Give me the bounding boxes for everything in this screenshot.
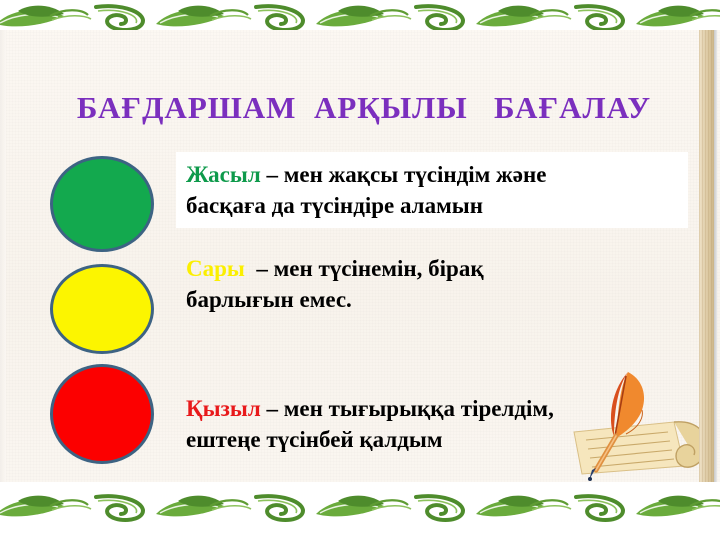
statement-yellow: Сары – мен түсінемін, бірақ барлығын еме…	[186, 254, 686, 315]
slide-canvas: БАҒДАРШАМ АРҚЫЛЫ БАҒАЛАУ	[0, 0, 720, 540]
statement-red-line2: ештеңе түсінбей қалдым	[186, 425, 706, 456]
statement-green-line1: Жасыл – мен жақсы түсіндім және	[186, 160, 682, 191]
statement-yellow-line1-text: – мен түсінемін, бірақ	[245, 256, 484, 281]
traffic-light-green-circle	[50, 156, 154, 252]
statement-red-line1: Қызыл – мен тығырыққа тірелдім,	[186, 394, 706, 425]
statement-yellow-line2: барлығын емес.	[186, 285, 686, 316]
traffic-light-yellow-circle	[50, 264, 154, 354]
page-title: БАҒДАРШАМ АРҚЫЛЫ БАҒАЛАУ	[26, 92, 702, 125]
bottom-leaf-vine-border	[0, 482, 720, 540]
top-leaf-vine-border	[0, 0, 720, 30]
statement-green-line2: басқаға да түсіндіре аламын	[186, 191, 682, 222]
statement-green-line1-text: – мен жақсы түсіндім және	[261, 162, 547, 187]
statement-green: Жасыл – мен жақсы түсіндім және басқаға …	[176, 152, 688, 228]
traffic-light-red-circle	[50, 364, 154, 464]
statement-yellow-line1: Сары – мен түсінемін, бірақ	[186, 254, 686, 285]
left-page-edge	[0, 28, 6, 512]
statement-red-keyword: Қызыл	[186, 396, 261, 421]
right-page-edge	[714, 30, 717, 490]
vine-svg-top	[0, 0, 720, 30]
statement-green-keyword: Жасыл	[186, 162, 261, 187]
statement-red-line1-text: – мен тығырыққа тірелдім,	[261, 396, 554, 421]
statement-yellow-keyword: Сары	[186, 256, 245, 281]
statement-red: Қызыл – мен тығырыққа тірелдім, ештеңе т…	[186, 394, 706, 455]
right-parchment-strip	[699, 30, 714, 490]
vine-svg-bottom	[0, 482, 720, 540]
